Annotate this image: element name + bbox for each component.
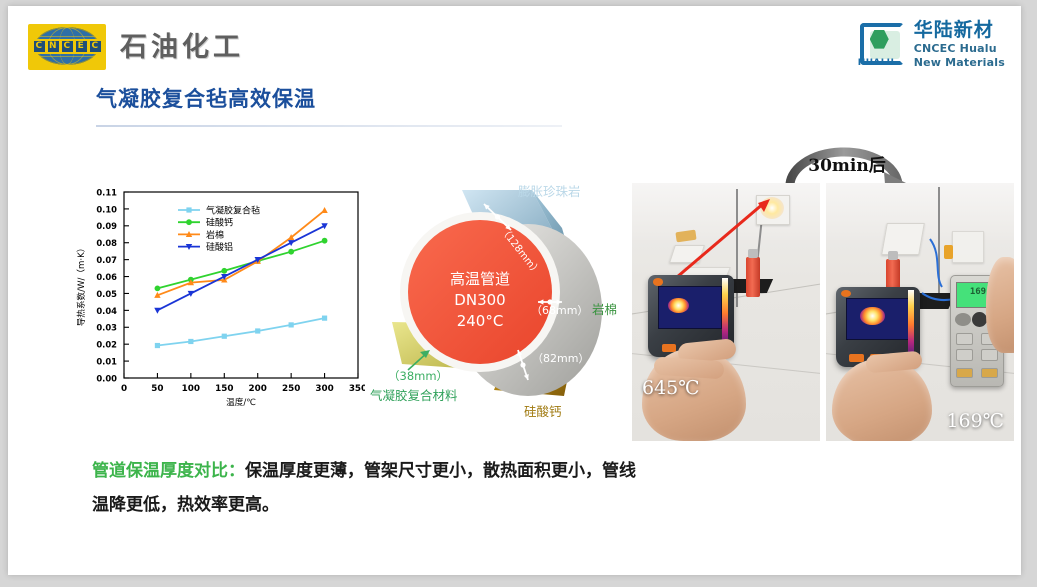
svg-text:气凝胶复合材料: 气凝胶复合材料 [370, 388, 458, 403]
svg-text:0: 0 [121, 384, 127, 394]
experiment-photo-pair: 645℃ [632, 183, 1014, 441]
svg-text:0.07: 0.07 [96, 255, 117, 265]
svg-text:200: 200 [249, 384, 267, 394]
cncec-letter-3: E [76, 41, 87, 52]
svg-text:（68mm）: （68mm） [531, 304, 588, 317]
svg-text:150: 150 [215, 384, 233, 394]
pipe-diagram-svg: 高温管道DN300240°C（128mm）（68mm）（82mm）（38mm）膨… [366, 174, 628, 426]
svg-text:50: 50 [151, 384, 163, 394]
svg-text:350: 350 [349, 384, 365, 394]
svg-text:300: 300 [315, 384, 333, 394]
svg-text:0.00: 0.00 [96, 373, 117, 383]
svg-text:0.09: 0.09 [96, 221, 117, 231]
hualu-mark-word: HUALU [858, 59, 895, 68]
cncec-letter-0: C [34, 41, 45, 52]
svg-text:岩棉: 岩棉 [592, 302, 617, 317]
header-brand-text: 石油化工 [120, 34, 244, 61]
svg-text:0.04: 0.04 [96, 306, 117, 316]
page-title: 气凝胶复合毡高效保温 [96, 89, 316, 110]
hualu-name-en-2: New Materials [914, 56, 1005, 70]
svg-text:硅酸钙: 硅酸钙 [206, 217, 233, 229]
svg-text:100: 100 [182, 384, 200, 394]
svg-text:0.01: 0.01 [96, 356, 117, 366]
svg-text:温度/℃: 温度/℃ [226, 396, 256, 408]
caption-highlight: 管道保温厚度对比： [92, 461, 245, 481]
svg-text:0.06: 0.06 [96, 272, 117, 282]
photo-after: 169 169℃ [826, 183, 1014, 441]
svg-text:240°C: 240°C [457, 312, 504, 330]
svg-text:（82mm）: （82mm） [532, 352, 589, 365]
hualu-mark-icon: HUALU [858, 23, 906, 67]
svg-text:0.05: 0.05 [96, 289, 117, 299]
cncec-letter-1: N [48, 41, 59, 52]
title-divider [96, 125, 562, 127]
svg-text:硅酸钙: 硅酸钙 [524, 404, 562, 419]
photo-before: 645℃ [632, 183, 820, 441]
svg-text:0.11: 0.11 [96, 187, 117, 197]
svg-text:气凝胶复合毡: 气凝胶复合毡 [206, 204, 260, 216]
svg-text:0.02: 0.02 [96, 340, 117, 350]
header-right-logo: HUALU 华陆新材 CNCEC Hualu New Materials [858, 20, 1005, 69]
svg-text:0.08: 0.08 [96, 238, 117, 248]
svg-text:DN300: DN300 [454, 291, 505, 309]
slide-canvas: C N C E C 石油化工 HUALU 华陆新材 CNCEC Hualu Ne… [8, 6, 1021, 575]
transition-arrow-label: 30min后 [788, 158, 906, 175]
svg-text:0.10: 0.10 [96, 204, 117, 214]
thermal-conductivity-chart: 0.000.010.020.030.040.050.060.070.080.09… [70, 182, 365, 417]
hualu-name-cn: 华陆新材 [914, 20, 1005, 42]
svg-text:膨胀珍珠岩: 膨胀珍珠岩 [518, 184, 581, 199]
svg-text:硅酸铝: 硅酸铝 [206, 241, 233, 253]
svg-text:0.03: 0.03 [96, 323, 117, 333]
header-left-brand: C N C E C 石油化工 [28, 24, 244, 70]
temp-label-before: 645℃ [642, 379, 700, 398]
chart-svg: 0.000.010.020.030.040.050.060.070.080.09… [70, 182, 365, 417]
svg-text:导热系数/W/（m·K）: 导热系数/W/（m·K） [75, 244, 87, 327]
cncec-letter-4: C [90, 41, 101, 52]
svg-text:高温管道: 高温管道 [450, 270, 510, 288]
cncec-logo-icon: C N C E C [28, 24, 106, 70]
summary-caption: 管道保温厚度对比：保温厚度更薄，管架尺寸更小，散热面积更小，管线温降更低，热效率… [92, 454, 652, 522]
hualu-name-en-1: CNCEC Hualu [914, 42, 1005, 56]
temp-label-after: 169℃ [946, 412, 1004, 431]
svg-text:岩棉: 岩棉 [206, 229, 224, 241]
pipe-insulation-diagram: 高温管道DN300240°C（128mm）（68mm）（82mm）（38mm）膨… [366, 174, 628, 426]
svg-text:250: 250 [282, 384, 300, 394]
svg-text:（38mm）: （38mm） [388, 369, 448, 383]
cncec-letter-2: C [62, 41, 73, 52]
